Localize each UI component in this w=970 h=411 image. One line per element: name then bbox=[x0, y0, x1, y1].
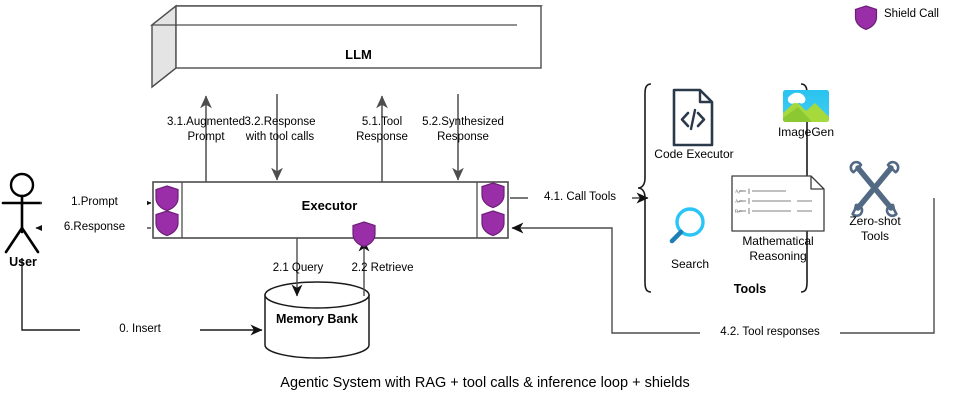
image-gen-icon bbox=[783, 90, 829, 122]
tools-group-label: Tools bbox=[705, 283, 795, 296]
diagram-canvas: A₀=Aₙ=Bₙ= LLM bbox=[0, 0, 970, 411]
edge-label-user-response: 6.Response bbox=[42, 221, 147, 234]
magnifier-icon bbox=[672, 209, 703, 241]
shield-icon-memory bbox=[353, 222, 375, 247]
tool-label-zeroshot-line2: Tools bbox=[840, 230, 910, 243]
shield-icon-executor-out-right bbox=[482, 183, 504, 208]
svg-text:A₀=: A₀= bbox=[735, 189, 743, 194]
edge-label-synthesized-response-line1: 5.2.Synthesized bbox=[398, 116, 528, 129]
edge-label-prompt: 1.Prompt bbox=[42, 196, 147, 209]
shield-icon-executor-in-left bbox=[156, 186, 178, 211]
edge-label-tool-responses: 4.2. Tool responses bbox=[700, 326, 840, 339]
edge-label-response-tool-calls-line1: 3.2.Response bbox=[215, 116, 345, 129]
tool-label-math-line2: Reasoning bbox=[723, 250, 833, 263]
shield-icon-executor-in-right bbox=[482, 211, 504, 236]
user-actor bbox=[3, 174, 41, 252]
executor-label: Executor bbox=[182, 199, 477, 212]
math-document-icon: A₀=Aₙ=Bₙ= bbox=[732, 176, 824, 231]
legend-shield-label: Shield Call bbox=[884, 8, 939, 21]
code-document-icon bbox=[674, 90, 712, 145]
tool-label-math-line1: Mathematical bbox=[723, 235, 833, 248]
tool-label-imagegen: ImageGen bbox=[768, 126, 844, 139]
edge-insert bbox=[22, 258, 262, 330]
shield-icon-legend bbox=[856, 6, 877, 29]
crossed-wrenches-icon bbox=[851, 162, 898, 216]
tool-label-search: Search bbox=[661, 258, 719, 271]
tool-label-zeroshot-line1: Zero-shot bbox=[840, 215, 910, 228]
memory-bank-label: Memory Bank bbox=[265, 313, 369, 326]
tool-label-code-executor: Code Executor bbox=[648, 148, 740, 161]
svg-text:Bₙ=: Bₙ= bbox=[735, 209, 743, 214]
edge-label-retrieve: 2.2 Retrieve bbox=[330, 262, 435, 275]
svg-text:Aₙ=: Aₙ= bbox=[735, 199, 743, 204]
edge-label-synthesized-response-line2: Response bbox=[398, 131, 528, 144]
diagram-caption: Agentic System with RAG + tool calls & i… bbox=[0, 377, 970, 390]
shield-icon-executor-out-left bbox=[156, 211, 178, 236]
llm-label: LLM bbox=[176, 48, 541, 61]
edge-label-insert: 0. Insert bbox=[80, 323, 200, 336]
edge-label-response-tool-calls-line2: with tool calls bbox=[215, 131, 345, 144]
edge-label-call-tools: 4.1. Call Tools bbox=[528, 191, 632, 204]
user-label: User bbox=[0, 256, 46, 269]
